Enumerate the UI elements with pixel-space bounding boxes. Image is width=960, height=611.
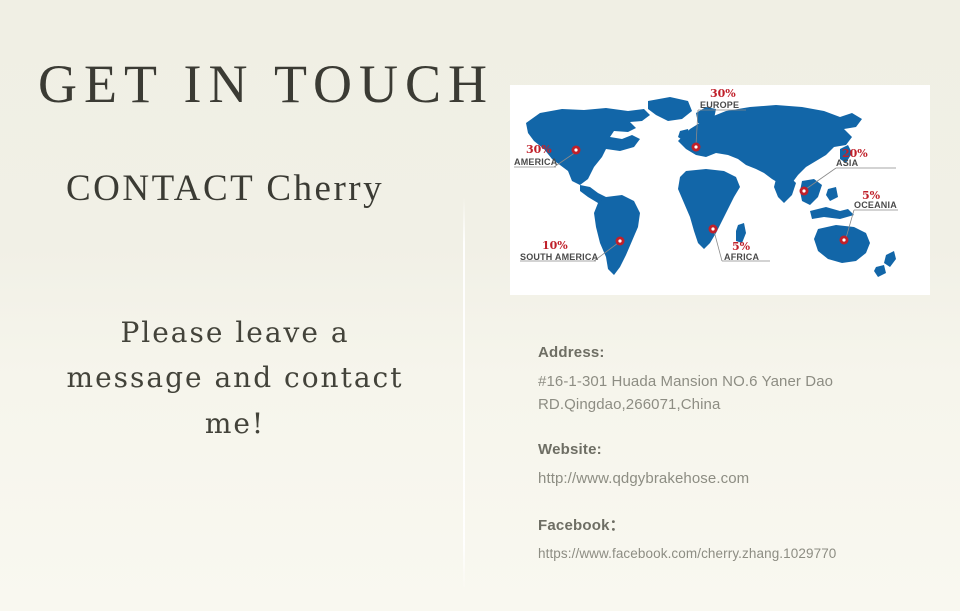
invitation-message: Please leave a message and contact me! (40, 310, 430, 446)
map-region-oceania: OCEANIA (854, 200, 897, 210)
right-column: 30% AMERICA 30% EUROPE (463, 0, 960, 611)
map-region-europe: EUROPE (700, 100, 739, 110)
address-label: Address: (538, 344, 948, 361)
map-region-africa: AFRICA (724, 252, 759, 262)
contact-person-heading: CONTACT Cherry (66, 170, 384, 207)
map-region-south-america: SOUTH AMERICA (520, 252, 599, 262)
contact-details: Address: #16-1-301 Huada Mansion NO.6 Ya… (538, 344, 948, 565)
map-pct-south-america: 10% (542, 239, 568, 252)
pin-europe-center (694, 145, 697, 148)
invitation-message-line-3: me! (40, 401, 430, 446)
website-label: Website: (538, 441, 948, 458)
website-url[interactable]: http://www.qdgybrakehose.com (538, 467, 948, 490)
facebook-label: Facebook： (538, 514, 948, 535)
pin-oceania-center (842, 238, 845, 241)
address-line-1: #16-1-301 Huada Mansion NO.6 Yaner Dao (538, 370, 948, 393)
website-block: Website: http://www.qdgybrakehose.com (538, 441, 948, 490)
facebook-url[interactable]: https://www.facebook.com/cherry.zhang.10… (538, 544, 948, 565)
map-region-america: AMERICA (514, 157, 558, 167)
world-distribution-map: 30% AMERICA 30% EUROPE (510, 85, 930, 295)
page-title: GET IN TOUCH (38, 57, 494, 111)
world-map-svg: 30% AMERICA 30% EUROPE (510, 85, 930, 295)
map-region-asia: ASIA (836, 158, 859, 168)
pin-africa-center (711, 227, 714, 230)
pin-asia-center (802, 189, 805, 192)
facebook-block: Facebook： https://www.facebook.com/cherr… (538, 514, 948, 565)
invitation-message-line-1: Please leave a (40, 310, 430, 355)
address-block: Address: #16-1-301 Huada Mansion NO.6 Ya… (538, 344, 948, 417)
map-pct-america: 30% (526, 143, 552, 156)
pin-south-america-center (618, 239, 621, 242)
left-column: GET IN TOUCH CONTACT Cherry Please leave… (0, 0, 463, 611)
pin-america-center (574, 148, 577, 151)
address-line-2: RD.Qingdao,266071,China (538, 393, 948, 416)
contact-slide: GET IN TOUCH CONTACT Cherry Please leave… (0, 0, 960, 611)
invitation-message-line-2: message and contact (40, 355, 430, 400)
map-pct-europe: 30% (710, 87, 736, 100)
